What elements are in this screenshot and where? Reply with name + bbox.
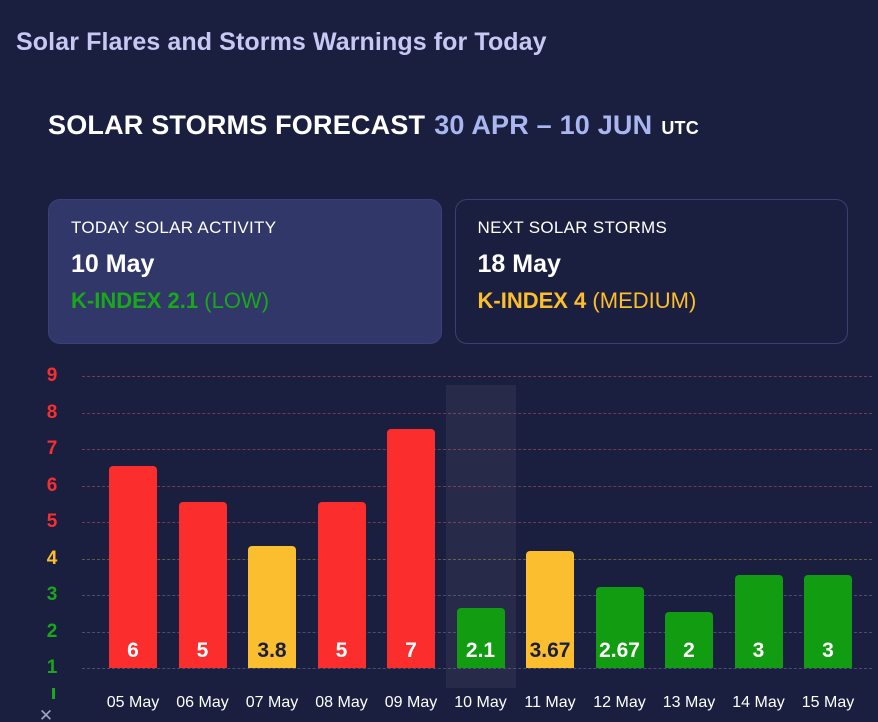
y-axis-tick-label: 9 — [38, 365, 66, 387]
axis-tick-stub — [52, 688, 55, 699]
close-icon[interactable]: ✕ — [37, 707, 55, 722]
next-solar-storms-card[interactable]: NEXT SOLAR STORMS18 MayK-INDEX 4 (MEDIUM… — [455, 199, 849, 344]
y-axis-tick-label: 7 — [38, 438, 66, 460]
card-date: 10 May — [71, 250, 419, 279]
card-kindex: K-INDEX 4 (MEDIUM) — [478, 288, 826, 314]
bar[interactable]: 6 — [109, 466, 157, 669]
forecast-date-range: 30 APR – 10 JUN — [434, 110, 652, 141]
x-axis-tick-label: 13 May — [654, 694, 724, 712]
bar-value-label: 5 — [336, 640, 348, 668]
bar-value-label: 2.67 — [599, 640, 640, 668]
card-kindex-value: K-INDEX 2.1 — [71, 288, 198, 313]
bar[interactable]: 2.1 — [457, 608, 505, 668]
forecast-timezone: UTC — [661, 118, 699, 139]
card-kindex-level: (LOW) — [204, 288, 269, 313]
bar-value-label: 3.67 — [530, 640, 571, 668]
solar-forecast-page: Solar Flares and Storms Warnings for Tod… — [0, 0, 878, 722]
bar-slot[interactable]: 2 — [654, 372, 724, 688]
y-axis-tick-label: 6 — [38, 475, 66, 497]
bar-value-label: 5 — [197, 640, 209, 668]
bar[interactable]: 3 — [735, 575, 783, 668]
bar-slot[interactable]: 7 — [376, 372, 446, 688]
x-axis-tick-label: 08 May — [307, 694, 377, 712]
bar-slot[interactable]: 3 — [793, 372, 863, 688]
bar-value-label: 2 — [683, 640, 695, 668]
y-axis-tick-label: 5 — [38, 511, 66, 533]
chart-plot-area: 653.8572.13.672.6723305 May06 May07 May0… — [82, 372, 878, 722]
x-axis-tick-label: 15 May — [793, 694, 863, 712]
bar-slot[interactable]: 2.67 — [585, 372, 655, 688]
y-axis-tick-label: 4 — [38, 548, 66, 570]
forecast-label: SOLAR STORMS FORECAST — [48, 110, 425, 141]
bar-value-label: 3 — [753, 640, 765, 668]
today-solar-activity-card[interactable]: TODAY SOLAR ACTIVITY10 MayK-INDEX 2.1 (L… — [48, 199, 442, 344]
forecast-heading: SOLAR STORMS FORECAST 30 APR – 10 JUN UT… — [48, 110, 699, 141]
card-date: 18 May — [478, 250, 826, 279]
y-axis-tick-label: 2 — [38, 621, 66, 643]
bar-slot[interactable]: 5 — [307, 372, 377, 688]
x-axis-tick-label: 10 May — [446, 694, 516, 712]
bar[interactable]: 5 — [318, 502, 366, 668]
bar[interactable]: 5 — [179, 502, 227, 668]
bar-slot[interactable]: 6 — [98, 372, 168, 688]
card-kindex: K-INDEX 2.1 (LOW) — [71, 288, 419, 314]
y-axis-tick-label: 3 — [38, 584, 66, 606]
summary-cards: TODAY SOLAR ACTIVITY10 MayK-INDEX 2.1 (L… — [48, 199, 848, 344]
k-index-bar-chart: 653.8572.13.672.6723305 May06 May07 May0… — [0, 372, 878, 722]
bar[interactable]: 3.67 — [526, 551, 574, 668]
bar[interactable]: 3.8 — [248, 546, 296, 668]
card-kindex-value: K-INDEX 4 — [478, 288, 587, 313]
bar[interactable]: 3 — [804, 575, 852, 668]
bar-value-label: 3.8 — [257, 640, 286, 668]
bar[interactable]: 2 — [665, 612, 713, 669]
bar[interactable]: 7 — [387, 429, 435, 668]
bar-slot[interactable]: 2.1 — [446, 372, 516, 688]
x-axis-tick-label: 09 May — [376, 694, 446, 712]
x-axis-tick-label: 05 May — [98, 694, 168, 712]
page-title: Solar Flares and Storms Warnings for Tod… — [16, 28, 547, 57]
x-axis-tick-label: 12 May — [585, 694, 655, 712]
bar-slot[interactable]: 5 — [168, 372, 238, 688]
bar-value-label: 6 — [127, 640, 139, 668]
card-heading: TODAY SOLAR ACTIVITY — [71, 218, 419, 238]
x-axis-tick-label: 07 May — [237, 694, 307, 712]
bar-slot[interactable]: 3.67 — [515, 372, 585, 688]
bar-value-label: 2.1 — [466, 640, 495, 668]
x-axis-tick-label: 14 May — [724, 694, 794, 712]
bar-value-label: 7 — [405, 640, 417, 668]
bars-group: 653.8572.13.672.67233 — [82, 372, 878, 688]
x-axis-tick-label: 11 May — [515, 694, 585, 712]
bar-value-label: 3 — [822, 640, 834, 668]
bar-slot[interactable]: 3 — [724, 372, 794, 688]
bar-slot[interactable]: 3.8 — [237, 372, 307, 688]
bar[interactable]: 2.67 — [596, 587, 644, 668]
y-axis-tick-label: 1 — [38, 657, 66, 679]
card-kindex-level: (MEDIUM) — [592, 288, 696, 313]
x-axis-tick-label: 06 May — [168, 694, 238, 712]
card-heading: NEXT SOLAR STORMS — [478, 218, 826, 238]
y-axis-tick-label: 8 — [38, 402, 66, 424]
